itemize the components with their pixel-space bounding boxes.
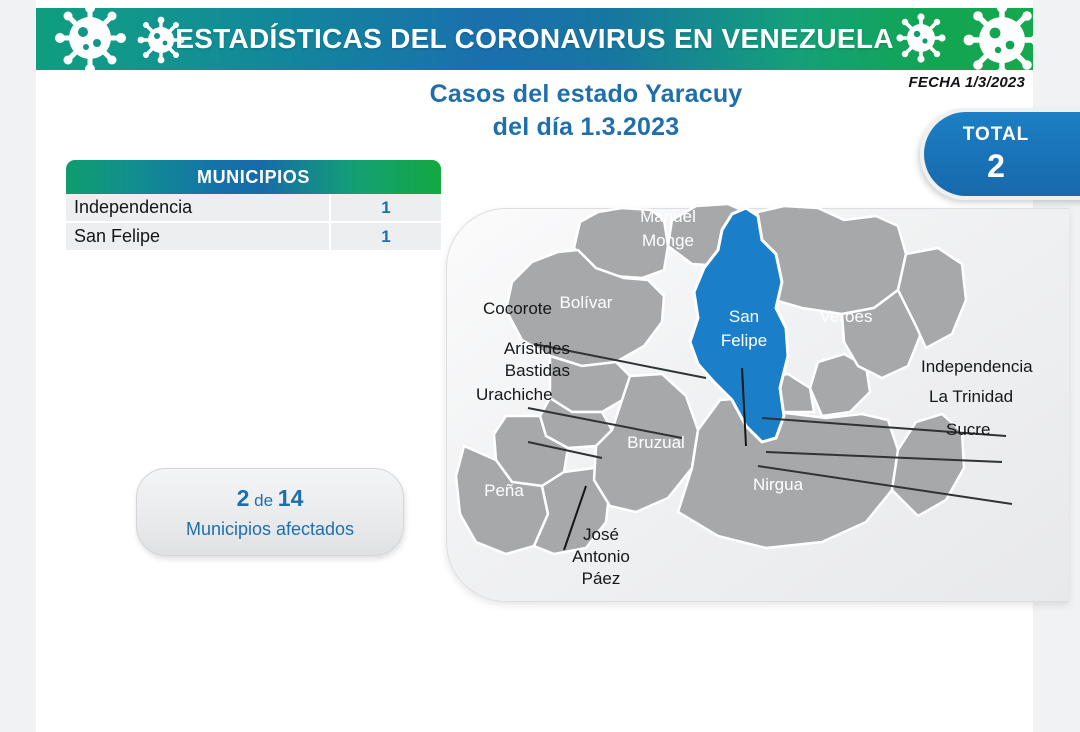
map-label-nirgua: Nirgua (753, 475, 804, 494)
total-label: TOTAL (963, 124, 1030, 146)
map-label-paez: Páez (582, 569, 621, 588)
map-label-antonio: Antonio (572, 547, 630, 566)
table-row: Independencia 1 (66, 194, 441, 223)
map-label-pena: Peña (484, 481, 524, 500)
page-title-line1: Casos del estado Yaracuy (430, 80, 743, 108)
table-cell-count: 1 (331, 223, 441, 250)
map-label-san-felipe-line2: Felipe (721, 331, 767, 350)
map-label-aristides-bastidas: Arístides Bastidas (486, 338, 570, 382)
affected-count: 2 de 14 (237, 483, 304, 516)
map-label-jose: José (583, 525, 619, 544)
page-title: Casos del estado Yaracuy del día 1.3.202… (336, 78, 836, 144)
map-label-cocorote: Cocorote (483, 298, 552, 320)
map-label-bolivar: Bolívar (560, 293, 613, 312)
affected-municipalities-box: 2 de 14 Municipios afectados (136, 468, 404, 556)
map-label-aristides: Arístides (504, 339, 570, 358)
map-label-manuel-monge: Manuel (640, 207, 696, 226)
map-label-veroes: Veroes (820, 307, 873, 326)
map-label-la-trinidad: La Trinidad (929, 386, 1013, 408)
table-cell-municipio: Independencia (66, 194, 331, 221)
map-label-bastidas: Bastidas (505, 361, 570, 380)
date-label: FECHA 1/3/2023 (909, 74, 1025, 91)
affected-connector: de (249, 491, 277, 510)
affected-total-value: 14 (278, 485, 304, 511)
map-label-independencia: Independencia (921, 356, 1033, 378)
table-row: San Felipe 1 (66, 223, 441, 252)
map-label-jose-antonio-paez: José Antonio Páez (536, 524, 666, 590)
table-cell-municipio: San Felipe (66, 223, 331, 250)
affected-count-value: 2 (237, 485, 250, 511)
banner-title: ESTADÍSTICAS DEL CORONAVIRUS EN VENEZUEL… (36, 8, 1033, 70)
page-root: ESTADÍSTICAS DEL CORONAVIRUS EN VENEZUEL… (0, 0, 1080, 732)
header-banner: ESTADÍSTICAS DEL CORONAVIRUS EN VENEZUEL… (36, 8, 1033, 70)
page-title-line2: del día 1.3.2023 (336, 111, 836, 144)
map-label-san-felipe: San (729, 307, 759, 326)
map-label-manuel-monge-line2: Monge (642, 231, 694, 250)
table-cell-count: 1 (331, 194, 441, 221)
affected-label: Municipios afectados (186, 516, 354, 542)
map-label-sucre: Sucre (946, 419, 990, 441)
document-canvas: ESTADÍSTICAS DEL CORONAVIRUS EN VENEZUEL… (36, 0, 1033, 732)
municipios-table: MUNICIPIOS Independencia 1 San Felipe 1 (66, 160, 441, 252)
map-label-urachiche: Urachiche (476, 384, 553, 406)
table-header: MUNICIPIOS (66, 160, 441, 194)
